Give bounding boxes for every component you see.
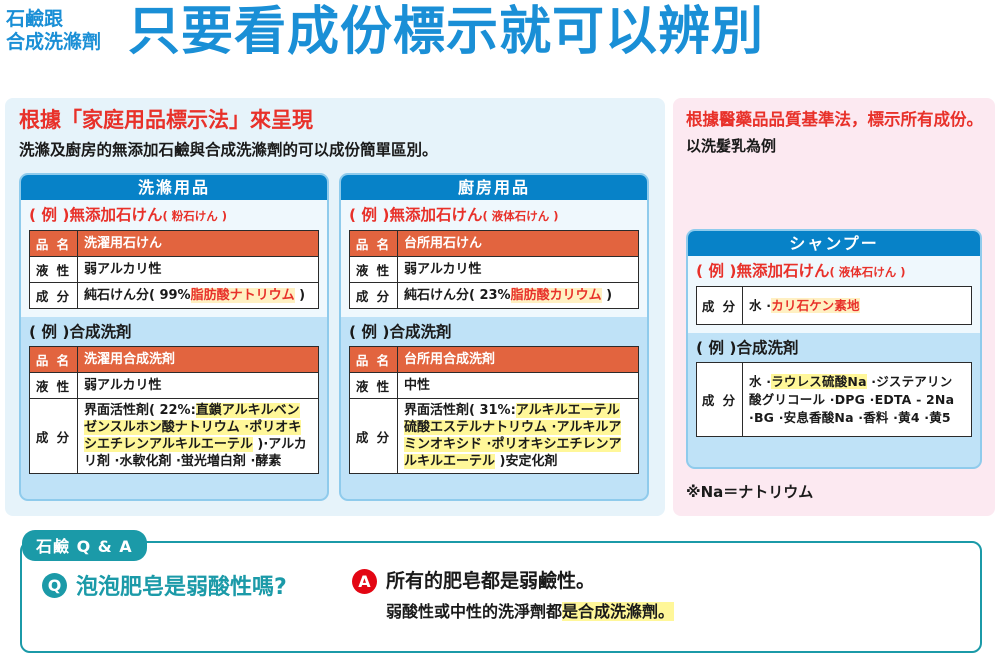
left-panel-subheading: 洗滌及廚房的無添加石鹼與合成洗滌劑的可以成份簡單區別。 xyxy=(19,140,438,160)
qa-question: Q 泡泡肥皂是弱酸性嗎? xyxy=(42,569,287,601)
table-row: 成 分 純石けん分( 23%脂肪酸カリウム ) xyxy=(350,283,639,309)
card-shampoo-soap-section: ( 例 )無添加石けん( 液体石けん ) 成 分 水 ·カリ石ケン素地 xyxy=(688,256,980,333)
table-row: 液 性 中性 xyxy=(350,373,639,399)
row-value: 洗濯用合成洗剤 xyxy=(78,347,319,373)
card-kitchen-soap-section: ( 例 )無添加石けん( 液体石けん ) 品 名 台所用石けん 液 性 弱アルカ… xyxy=(341,200,647,317)
right-panel: 根據醫藥品品質基準法，標示所有成份。 以洗髮乳為例 シャンプー ( 例 )無添加… xyxy=(673,98,995,516)
card-shampoo-synthetic-label: ( 例 )合成洗剤 xyxy=(696,338,972,359)
card-kitchen-soap-table: 品 名 台所用石けん 液 性 弱アルカリ性 成 分 純石けん分( 23%脂肪酸カ… xyxy=(349,230,639,309)
row-value: 界面活性剤( 31%:アルキルエーテル硫酸エステルナトリウム ·アルキルアミンオ… xyxy=(398,399,639,474)
qa-tab-label: 石鹼 Q & A xyxy=(22,530,147,561)
table-row: 品 名 台所用合成洗剤 xyxy=(350,347,639,373)
header-kicker: 石鹼跟 合成洗滌劑 xyxy=(6,8,101,54)
header-kicker-line1: 石鹼跟 xyxy=(6,8,101,31)
qa-answer: A 所有的肥皂都是弱鹼性。 弱酸性或中性的洗淨劑都是合成洗滌劑。 xyxy=(352,569,674,624)
row-label: 成 分 xyxy=(30,399,78,474)
right-panel-heading: 根據醫藥品品質基準法，標示所有成份。 xyxy=(686,107,983,133)
card-kitchen: 廚房用品 ( 例 )無添加石けん( 液体石けん ) 品 名 台所用石けん 液 性… xyxy=(339,173,649,501)
card-kitchen-synthetic-label: ( 例 )合成洗剤 xyxy=(349,322,639,343)
row-value: 洗濯用石けん xyxy=(78,231,319,257)
row-label: 品 名 xyxy=(350,231,398,257)
question-text: 泡泡肥皂是弱酸性嗎? xyxy=(76,569,287,601)
card-shampoo-synthetic-section: ( 例 )合成洗剤 成 分 水 ·ラウレス硫酸Na ·ジステアリン酸グリコール … xyxy=(688,333,980,446)
highlight-text: 脂肪酸ナトリウム xyxy=(191,288,295,303)
card-laundry-soap-section: ( 例 )無添加石けん( 粉石けん ) 品 名 洗濯用石けん 液 性 弱アルカリ… xyxy=(21,200,327,317)
left-panel: 根據「家庭用品標示法」來呈現 洗滌及廚房的無添加石鹼與合成洗滌劑的可以成份簡單區… xyxy=(5,98,665,516)
highlight-text: ラウレス硫酸Na xyxy=(771,374,867,389)
card-laundry-soap-label: ( 例 )無添加石けん( 粉石けん ) xyxy=(29,205,319,227)
row-label: 成 分 xyxy=(697,363,743,437)
card-laundry-title: 洗滌用品 xyxy=(21,175,327,200)
table-row: 成 分 水 ·ラウレス硫酸Na ·ジステアリン酸グリコール ·DPG ·EDTA… xyxy=(697,363,972,437)
row-label: 品 名 xyxy=(30,347,78,373)
left-panel-heading: 根據「家庭用品標示法」來呈現 xyxy=(19,107,313,133)
row-label: 液 性 xyxy=(350,257,398,283)
table-row: 品 名 洗濯用石けん xyxy=(30,231,319,257)
row-value: 水 ·ラウレス硫酸Na ·ジステアリン酸グリコール ·DPG ·EDTA - 2… xyxy=(743,363,972,437)
row-value: 中性 xyxy=(398,373,639,399)
answer-line-1: 所有的肥皂都是弱鹼性。 xyxy=(386,569,674,594)
card-laundry-synthetic-table: 品 名 洗濯用合成洗剤 液 性 弱アルカリ性 成 分 界面活性剤( 22%:直鎖… xyxy=(29,346,319,474)
row-value: 弱アルカリ性 xyxy=(78,257,319,283)
table-row: 液 性 弱アルカリ性 xyxy=(350,257,639,283)
row-label: 成 分 xyxy=(350,399,398,474)
row-label: 成 分 xyxy=(697,287,743,325)
row-value: 純石けん分( 23%脂肪酸カリウム ) xyxy=(398,283,639,309)
card-kitchen-soap-label: ( 例 )無添加石けん( 液体石けん ) xyxy=(349,205,639,227)
row-value: 台所用合成洗剤 xyxy=(398,347,639,373)
row-value: 台所用石けん xyxy=(398,231,639,257)
row-value: 界面活性剤( 22%:直鎖アルキルベンゼンスルホン酸ナトリウム ·ポリオキシエチ… xyxy=(78,399,319,474)
row-label: 液 性 xyxy=(350,373,398,399)
qa-box: Q 泡泡肥皂是弱酸性嗎? A 所有的肥皂都是弱鹼性。 弱酸性或中性的洗淨劑都是合… xyxy=(20,541,982,653)
header-kicker-line2: 合成洗滌劑 xyxy=(6,31,101,54)
card-shampoo-synthetic-table: 成 分 水 ·ラウレス硫酸Na ·ジステアリン酸グリコール ·DPG ·EDTA… xyxy=(696,362,972,437)
row-value: 純石けん分( 99%脂肪酸ナトリウム ) xyxy=(78,283,319,309)
table-row: 品 名 洗濯用合成洗剤 xyxy=(30,347,319,373)
answer-text-block: 所有的肥皂都是弱鹼性。 弱酸性或中性的洗淨劑都是合成洗滌劑。 xyxy=(386,569,674,624)
card-laundry: 洗滌用品 ( 例 )無添加石けん( 粉石けん ) 品 名 洗濯用石けん 液 性 … xyxy=(19,173,329,501)
row-label: 品 名 xyxy=(30,231,78,257)
row-label: 成 分 xyxy=(30,283,78,309)
right-panel-subheading: 以洗髮乳為例 xyxy=(686,136,776,156)
page-header: 石鹼跟 合成洗滌劑 只要看成份標示就可以辨別 xyxy=(0,0,1000,88)
row-value: 弱アルカリ性 xyxy=(398,257,639,283)
table-row: 液 性 弱アルカリ性 xyxy=(30,257,319,283)
footnote-na: ※Na＝ナトリウム xyxy=(686,481,813,502)
highlight-text: 脂肪酸カリウム xyxy=(511,288,602,303)
answer-line-2: 弱酸性或中性的洗淨劑都是合成洗滌劑。 xyxy=(386,600,674,624)
card-kitchen-synthetic-table: 品 名 台所用合成洗剤 液 性 中性 成 分 界面活性剤( 31%:アルキルエー… xyxy=(349,346,639,474)
table-row: 成 分 水 ·カリ石ケン素地 xyxy=(697,287,972,325)
card-laundry-synthetic-section: ( 例 )合成洗剤 品 名 洗濯用合成洗剤 液 性 弱アルカリ性 成 分 界面活… xyxy=(21,317,327,483)
table-row: 液 性 弱アルカリ性 xyxy=(30,373,319,399)
card-shampoo-title: シャンプー xyxy=(688,231,980,256)
row-label: 成 分 xyxy=(350,283,398,309)
table-row: 成 分 純石けん分( 99%脂肪酸ナトリウム ) xyxy=(30,283,319,309)
card-kitchen-synthetic-section: ( 例 )合成洗剤 品 名 台所用合成洗剤 液 性 中性 成 分 界面活性剤( … xyxy=(341,317,647,483)
row-value: 弱アルカリ性 xyxy=(78,373,319,399)
card-shampoo-soap-label: ( 例 )無添加石けん( 液体石けん ) xyxy=(696,261,972,283)
card-laundry-soap-table: 品 名 洗濯用石けん 液 性 弱アルカリ性 成 分 純石けん分( 99%脂肪酸ナ… xyxy=(29,230,319,309)
card-shampoo: シャンプー ( 例 )無添加石けん( 液体石けん ) 成 分 水 ·カリ石ケン素… xyxy=(686,229,982,469)
row-label: 液 性 xyxy=(30,257,78,283)
card-laundry-synthetic-label: ( 例 )合成洗剤 xyxy=(29,322,319,343)
card-kitchen-title: 廚房用品 xyxy=(341,175,647,200)
answer-badge-icon: A xyxy=(352,569,377,594)
question-badge-icon: Q xyxy=(42,573,67,598)
row-label: 品 名 xyxy=(350,347,398,373)
table-row: 品 名 台所用石けん xyxy=(350,231,639,257)
highlight-text: カリ石ケン素地 xyxy=(771,298,860,313)
table-row: 成 分 界面活性剤( 31%:アルキルエーテル硫酸エステルナトリウム ·アルキル… xyxy=(350,399,639,474)
card-shampoo-soap-table: 成 分 水 ·カリ石ケン素地 xyxy=(696,286,972,325)
row-value: 水 ·カリ石ケン素地 xyxy=(743,287,972,325)
table-row: 成 分 界面活性剤( 22%:直鎖アルキルベンゼンスルホン酸ナトリウム ·ポリオ… xyxy=(30,399,319,474)
row-label: 液 性 xyxy=(30,373,78,399)
page-title: 只要看成份標示就可以辨別 xyxy=(128,2,764,62)
highlight-text: 是合成洗滌劑。 xyxy=(562,602,674,621)
